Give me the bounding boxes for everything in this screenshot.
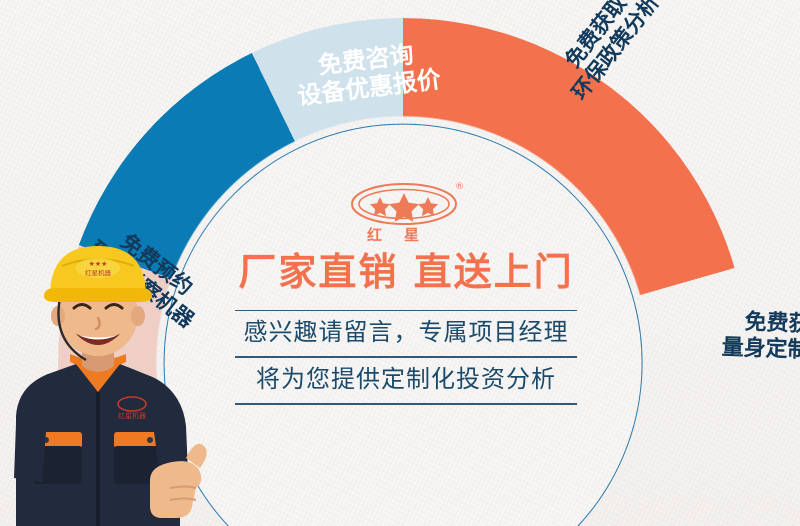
center-content: ® 红星 厂家直销 直送上门 感兴趣请留言，专属项目经理 将为您提供定制化投资分… bbox=[196, 180, 616, 460]
svg-text:红星: 红星 bbox=[367, 226, 441, 244]
divider-middle bbox=[235, 356, 577, 358]
subtitle-line-1: 感兴趣请留言，专属项目经理 bbox=[196, 311, 616, 356]
registered-mark: ® bbox=[455, 182, 464, 192]
headline: 厂家直销 直送上门 bbox=[196, 252, 616, 294]
divider-bottom bbox=[235, 403, 577, 405]
svg-text:★★★: ★★★ bbox=[89, 260, 108, 268]
svg-text:红星机器: 红星机器 bbox=[118, 411, 146, 420]
promo-banner: 免费预约 到厂考察机器 免费咨询 设备优惠报价 免费获取 环保政策分析 免费获取… bbox=[0, 0, 800, 526]
divider-top bbox=[235, 310, 577, 312]
svg-text:红星机器: 红星机器 bbox=[85, 268, 112, 277]
worker-photo: 红星机器 ★★★ 红星机器 bbox=[0, 226, 232, 526]
subtitle-line-2: 将为您提供定制化投资分析 bbox=[196, 358, 616, 403]
hongxing-logo: ® 红星 bbox=[347, 180, 465, 246]
